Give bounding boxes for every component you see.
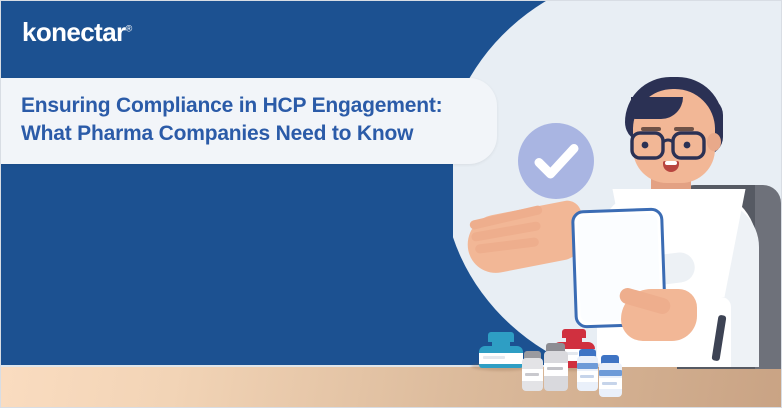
page-title-line-2: What Pharma Companies Need to Know (21, 120, 471, 148)
doctor-figure (561, 61, 782, 367)
desk-surface (1, 367, 782, 408)
article-title-card: Ensuring Compliance in HCP Engagement: W… (0, 78, 497, 164)
registered-trademark-icon: ® (126, 23, 133, 33)
konectar-logo[interactable]: konectar® (22, 19, 132, 45)
page-title: Ensuring Compliance in HCP Engagement: W… (21, 92, 471, 148)
page-title-line-1: Ensuring Compliance in HCP Engagement: (21, 94, 442, 117)
konectar-article-banner: konectar® Ensuring Compliance in HCP Eng… (0, 0, 782, 408)
teeth (665, 161, 677, 165)
logo-wordmark: konectar (22, 17, 126, 47)
